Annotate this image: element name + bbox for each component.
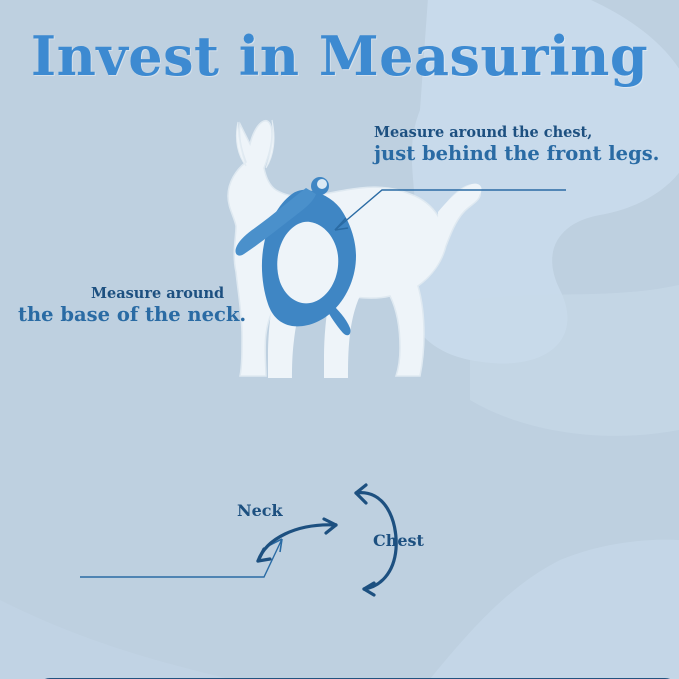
chest-callout: Measure around the chest, just behind th… bbox=[374, 124, 659, 167]
chest-arrow-icon bbox=[340, 479, 410, 599]
chest-callout-line2: just behind the front legs. bbox=[374, 142, 659, 166]
infographic-canvas: Invest in Measuring bbox=[0, 0, 679, 679]
chest-callout-line1: Measure around the chest, bbox=[374, 124, 659, 142]
neck-callout-line1: Measure around bbox=[18, 285, 246, 303]
chest-callout-leader-line bbox=[330, 168, 570, 238]
page-title: Invest in Measuring bbox=[0, 24, 679, 88]
neck-callout-line2: the base of the neck. bbox=[18, 303, 246, 327]
neck-callout: Measure around the base of the neck. Nec… bbox=[18, 285, 246, 328]
